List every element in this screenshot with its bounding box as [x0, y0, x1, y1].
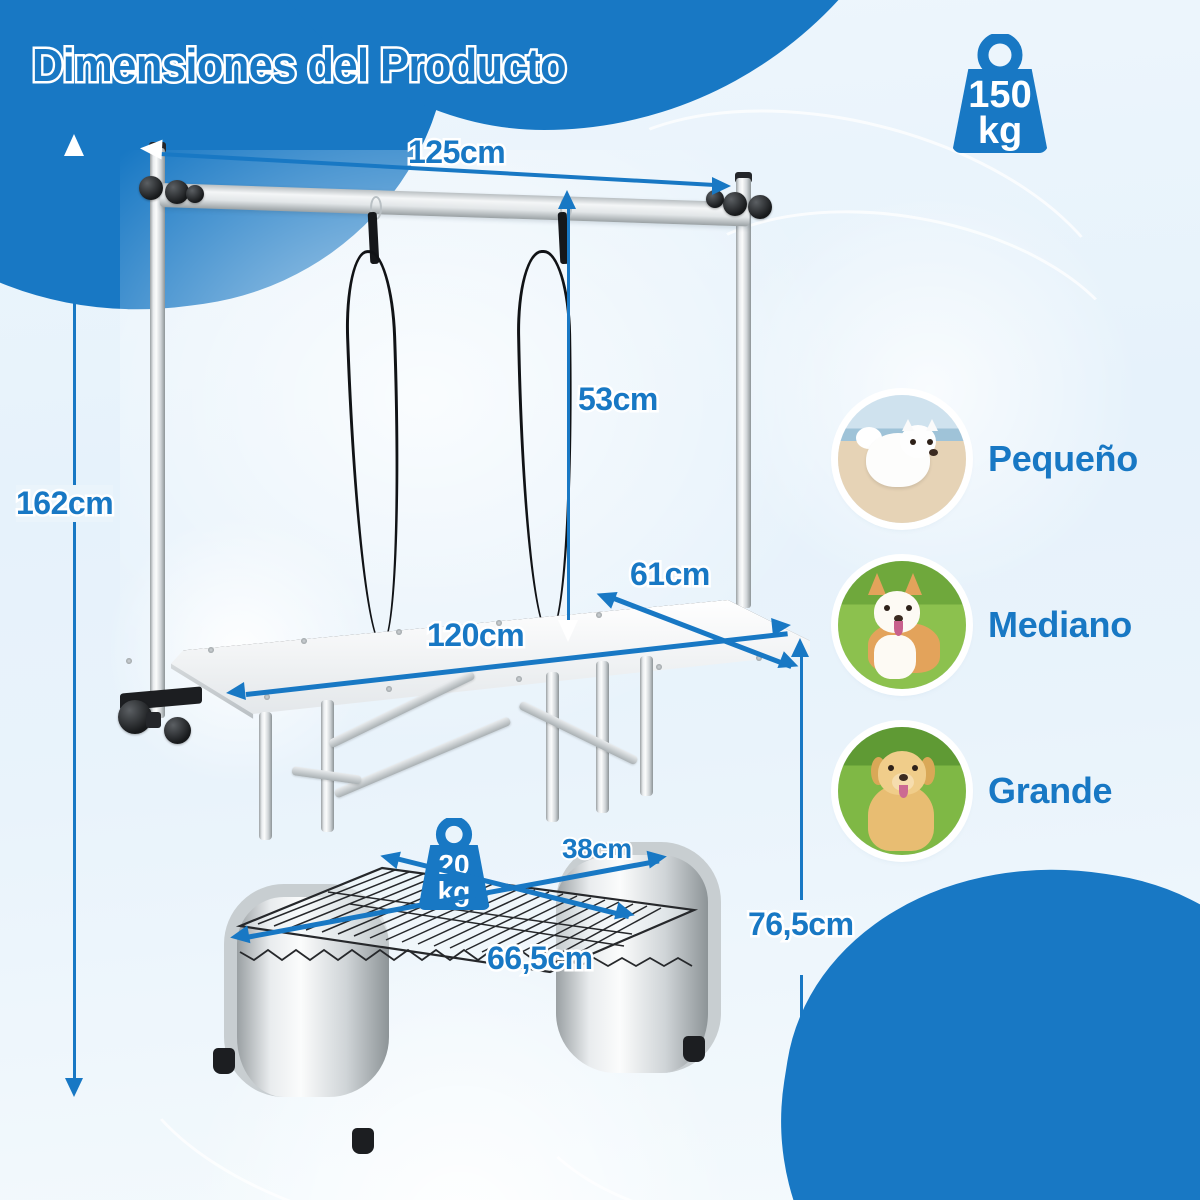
- dog-size-label-small: Pequeño: [988, 438, 1138, 480]
- dim-arrowhead-120cm-left: [225, 682, 246, 702]
- pomeranian-eye-left: [910, 439, 916, 445]
- base-foot-left: [213, 1048, 235, 1074]
- clamp-knob-d: [723, 192, 747, 216]
- pomeranian-eye-right: [927, 439, 933, 445]
- dog-size-label-large: Grande: [988, 770, 1112, 812]
- table-capacity-unit: kg: [978, 113, 1022, 149]
- dim-label-38cm: 38cm: [562, 833, 632, 865]
- dim-label-53cm: 53cm: [578, 381, 658, 418]
- retriever-eye-left: [888, 765, 894, 771]
- dim-line-53cm: [567, 202, 570, 632]
- dim-arrowhead-53cm-bottom: [558, 620, 578, 642]
- clamp-knob-e: [748, 195, 772, 219]
- dog-size-item-small[interactable]: Pequeño: [838, 376, 1188, 542]
- retriever-nose: [899, 774, 908, 781]
- table-leg-front-left-b: [321, 700, 334, 832]
- dim-arrowhead-162cm-top: [64, 134, 84, 156]
- dog-size-item-large[interactable]: Grande: [838, 708, 1188, 874]
- corgi-tongue: [894, 621, 903, 636]
- retriever-tongue: [899, 785, 908, 798]
- table-leg-rear-right: [640, 656, 653, 796]
- clamp-knob-a: [139, 176, 163, 200]
- corgi-chest: [874, 635, 916, 679]
- dog-size-item-medium[interactable]: Mediano: [838, 542, 1188, 708]
- dim-label-61cm: 61cm: [630, 556, 710, 593]
- dim-line-765cm-upper: [800, 650, 803, 900]
- pomeranian-ear-right: [926, 419, 938, 431]
- table-capacity-value: 150: [968, 77, 1031, 113]
- dim-arrowhead-125cm-right: [712, 177, 731, 195]
- dim-arrowhead-162cm-bottom: [65, 1078, 83, 1097]
- dim-line-162cm: [73, 152, 76, 1092]
- base-foot-center: [352, 1128, 374, 1154]
- dim-label-120cm: 120cm: [427, 617, 524, 654]
- beach-scene: [838, 395, 966, 523]
- dim-arrowhead-765cm-top: [791, 638, 809, 657]
- grooming-post-right: [736, 178, 751, 608]
- noose-loop-left: [343, 249, 407, 647]
- product-illustration: [0, 0, 860, 1200]
- dim-arrowhead-665cm-right: [647, 847, 669, 868]
- table-screw: [516, 676, 522, 682]
- dim-label-765cm: 76,5cm: [748, 906, 854, 943]
- table-screw: [208, 647, 214, 653]
- pomeranian-ear-left: [902, 419, 914, 431]
- dim-arrowhead-120cm-right: [771, 616, 792, 636]
- corgi-eye-left: [884, 605, 890, 611]
- table-screw: [396, 629, 402, 635]
- dog-size-label-medium: Mediano: [988, 604, 1132, 646]
- page-title: Dimensiones del Producto: [32, 38, 566, 92]
- dim-arrowhead-53cm-top: [558, 190, 576, 209]
- dog-photo-medium: [838, 561, 966, 689]
- corgi-ear-left: [868, 573, 886, 595]
- infographic-canvas: Dimensiones del Producto 150 kg 20 kg: [0, 0, 1200, 1200]
- dim-arrowhead-665cm-left: [229, 925, 251, 946]
- table-screw: [596, 612, 602, 618]
- retriever-eye-right: [912, 765, 918, 771]
- corgi-ear-right: [904, 573, 922, 595]
- dim-arrowhead-765cm-bottom: [791, 1082, 809, 1101]
- dim-label-162cm: 162cm: [16, 485, 113, 522]
- table-screw: [126, 658, 132, 664]
- dog-photo-small: [838, 395, 966, 523]
- base-foot-right: [683, 1036, 705, 1062]
- table-screw: [301, 638, 307, 644]
- dim-line-765cm-lower: [800, 975, 803, 1095]
- table-leg-front-left: [259, 712, 272, 840]
- table-capacity-badge: 150 kg: [952, 34, 1048, 153]
- grass-scene: [838, 561, 966, 689]
- table-screw: [386, 686, 392, 692]
- grass-scene-2: [838, 727, 966, 855]
- pomeranian-nose: [929, 449, 938, 456]
- table-leg-front-right: [546, 672, 559, 822]
- dim-label-125cm: 125cm: [408, 134, 505, 171]
- arm-mount-knob-2: [164, 717, 191, 744]
- dim-arrowhead-125cm-left: [139, 138, 162, 159]
- dim-label-665cm: 66,5cm: [487, 940, 593, 977]
- corgi-eye-right: [906, 605, 912, 611]
- table-screw: [656, 664, 662, 670]
- table-capacity-text: 150 kg: [952, 69, 1048, 153]
- dog-photo-large: [838, 727, 966, 855]
- grooming-arm-bar: [160, 183, 750, 227]
- dog-size-list: Pequeño Mediano: [838, 376, 1188, 874]
- clamp-knob-c: [186, 185, 204, 203]
